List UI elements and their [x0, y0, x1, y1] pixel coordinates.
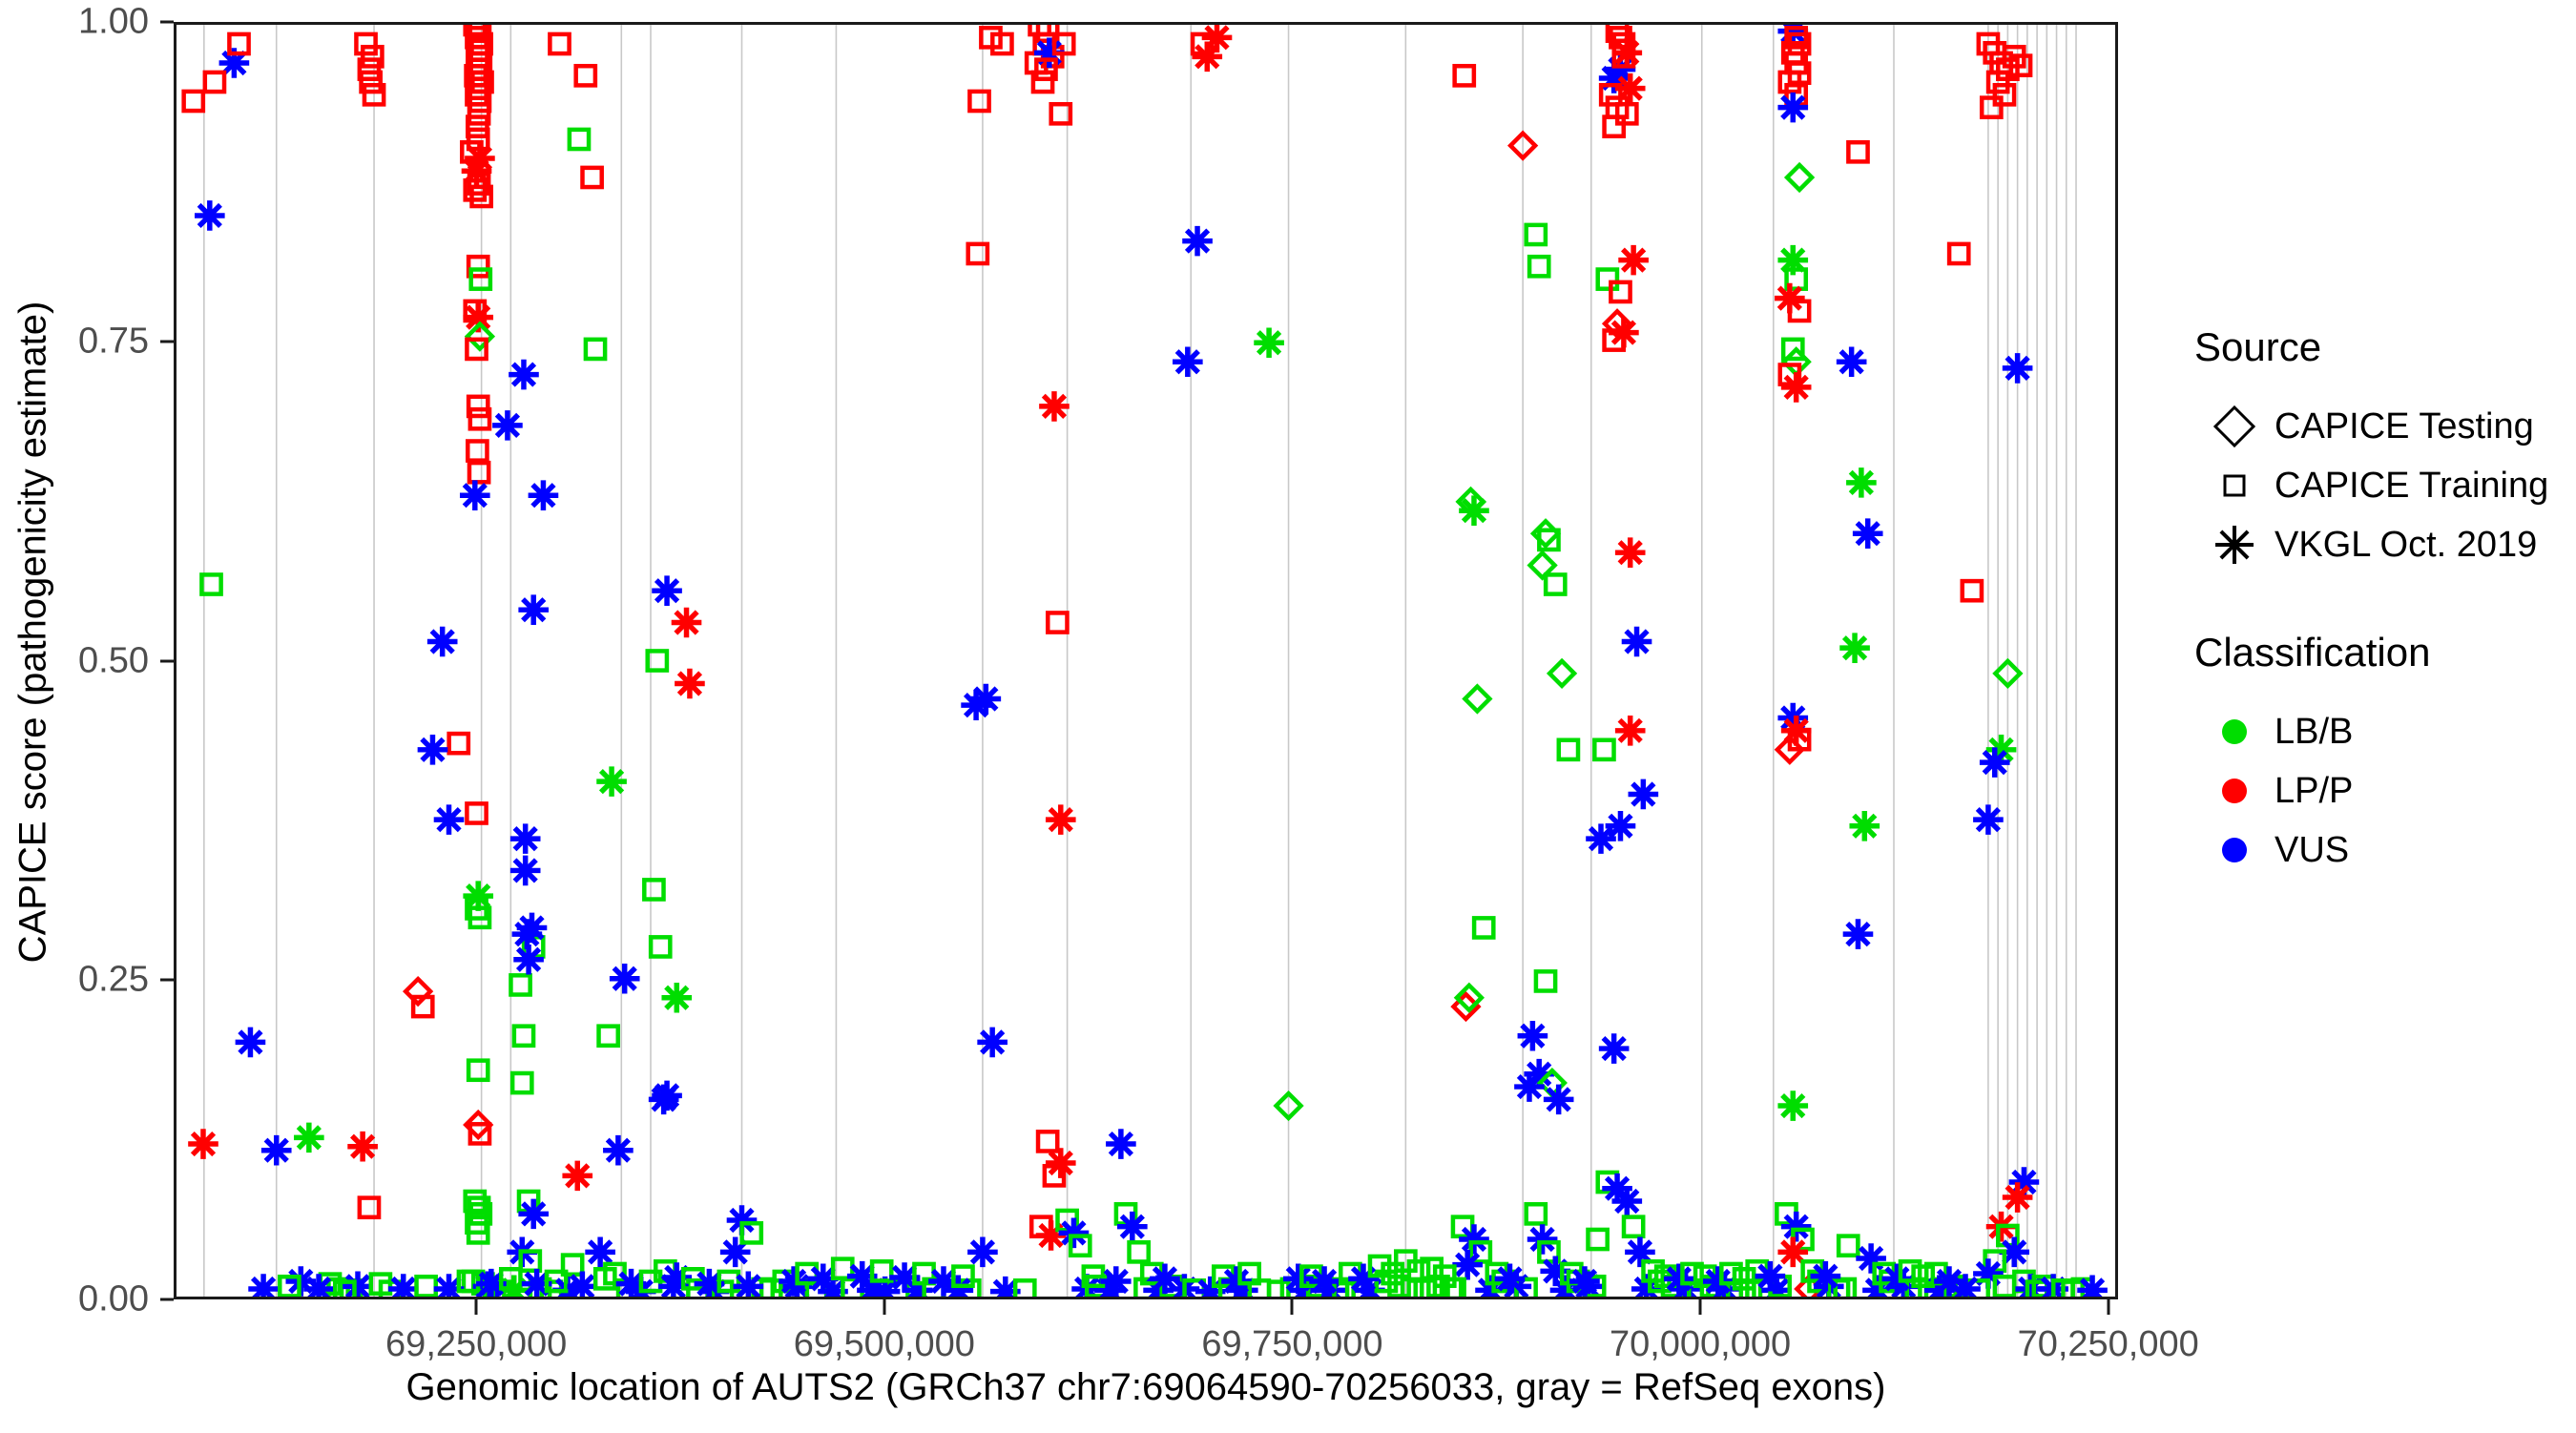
scatter-point — [967, 1237, 998, 1268]
scatter-point — [1618, 245, 1649, 276]
x-tick-mark — [475, 1299, 478, 1315]
scatter-point — [1569, 1266, 1600, 1297]
scatter-point — [195, 200, 225, 231]
scatter-point — [1837, 346, 1867, 377]
scatter-point — [610, 964, 640, 994]
scatter-point — [1610, 282, 1630, 301]
scatter-point — [1846, 467, 1877, 498]
scatter-point — [1495, 1264, 1526, 1295]
asterisk-icon — [2194, 515, 2275, 574]
scatter-point — [388, 1274, 419, 1297]
scatter-point — [1150, 1264, 1180, 1295]
y-tick-mark — [160, 659, 174, 662]
scatter-point — [675, 669, 705, 699]
legend-label-lpp: LP/P — [2275, 771, 2353, 812]
scatter-point — [1015, 1280, 1034, 1297]
legend-item-capice-training[interactable]: CAPICE Training — [2194, 456, 2576, 515]
scatter-point — [261, 1135, 292, 1166]
scatter-point — [510, 856, 541, 886]
scatter-point — [1254, 327, 1284, 358]
scatter-point — [1624, 1217, 1643, 1236]
scatter-point — [469, 463, 488, 482]
scatter-point — [1533, 521, 1558, 546]
scatter-point — [1622, 627, 1652, 657]
y-axis: CAPICE score (pathogenicity estimate) 0.… — [0, 0, 174, 1431]
scatter-point — [1995, 661, 2020, 686]
x-tick-label: 69,500,000 — [741, 1324, 1028, 1365]
scatter-point — [1130, 1242, 1149, 1261]
scatter-point — [1059, 1218, 1090, 1249]
scatter-point — [460, 480, 490, 510]
scatter-point — [1611, 1186, 1642, 1216]
scatter-point — [434, 804, 465, 835]
scatter-point — [1848, 142, 1867, 161]
scatter-point — [405, 979, 430, 1004]
legend-label-vkgl: VKGL Oct. 2019 — [2275, 525, 2537, 566]
legend-label-capice-training: CAPICE Training — [2275, 466, 2548, 507]
dot-icon-green — [2194, 702, 2275, 761]
scatter-point — [2003, 1182, 2033, 1213]
scatter-point — [1664, 1264, 1694, 1295]
scatter-point — [294, 1123, 324, 1153]
scatter-point — [1117, 1212, 1148, 1242]
scatter-point — [509, 360, 539, 390]
y-tick-mark — [160, 979, 174, 982]
scatter-point — [1452, 1250, 1483, 1280]
scatter-point — [1048, 613, 1067, 632]
scatter-point — [1510, 134, 1535, 158]
scatter-point — [1514, 1071, 1545, 1102]
scatter-point — [1455, 66, 1474, 85]
scatter-point — [1594, 740, 1613, 759]
y-axis-title: CAPICE score (pathogenicity estimate) — [12, 60, 55, 1205]
legend-item-capice-testing[interactable]: CAPICE Testing — [2194, 397, 2576, 456]
scatter-point — [968, 244, 987, 263]
x-tick-label: 69,750,000 — [1149, 1324, 1435, 1365]
x-tick-label: 70,000,000 — [1557, 1324, 1843, 1365]
scatter-point — [1173, 346, 1203, 377]
scatter-point — [1459, 495, 1489, 526]
scatter-point — [1106, 1129, 1136, 1159]
scatter-point — [1787, 165, 1812, 190]
scatter-point — [651, 937, 670, 956]
scatter-point — [603, 1135, 634, 1166]
scatter-point — [184, 92, 203, 111]
scatter-point — [570, 130, 589, 149]
scatter-point — [1839, 1236, 1858, 1256]
scatter-point — [1182, 226, 1213, 257]
scatter-point — [1529, 257, 1548, 276]
scatter-point — [1856, 1243, 1886, 1274]
scatter-point — [1465, 687, 1489, 712]
scatter-point — [529, 480, 559, 510]
scatter-point — [1598, 270, 1617, 289]
scatter-point — [467, 803, 486, 822]
diamond-icon — [2194, 397, 2275, 456]
scatter-point — [1839, 633, 1870, 663]
scatter-point — [518, 1199, 549, 1230]
scatter-point — [1051, 104, 1070, 123]
scatter-points — [177, 25, 2115, 1297]
scatter-point — [1982, 98, 2001, 117]
scatter-point — [468, 1061, 488, 1080]
scatter-point — [1527, 225, 1546, 244]
scatter-point — [201, 574, 220, 593]
scatter-point — [510, 823, 541, 854]
scatter-point — [576, 66, 595, 85]
scatter-point — [492, 410, 523, 441]
scatter-point — [1777, 1090, 1808, 1121]
scatter-point — [512, 1073, 531, 1092]
scatter-point — [1527, 1224, 1558, 1255]
scatter-point — [356, 34, 375, 53]
scatter-point — [1588, 1230, 1607, 1249]
scatter-point — [1949, 244, 1968, 263]
legend-title-source: Source — [2194, 324, 2576, 370]
x-tick-mark — [1291, 1299, 1294, 1315]
scatter-point — [1536, 971, 1555, 990]
scatter-point — [205, 73, 224, 92]
legend-group-source: Source CAPICE Testing CAPICE Training — [2194, 324, 2576, 574]
scatter-point — [1269, 1282, 1288, 1297]
y-tick-mark — [160, 340, 174, 343]
dot-icon-red — [2194, 761, 2275, 820]
legend-group-classification: Classification LB/B LP/P VUS — [2194, 630, 2576, 880]
y-tick-label: 0.50 — [15, 640, 149, 681]
legend-label-capice-testing: CAPICE Testing — [2275, 406, 2534, 447]
scatter-point — [971, 684, 1002, 715]
scatter-point — [188, 1129, 218, 1159]
y-tick-label: 0.25 — [15, 960, 149, 1001]
scatter-point — [1038, 1132, 1057, 1151]
scatter-point — [1615, 73, 1646, 104]
legend-label-lbb: LB/B — [2275, 712, 2353, 753]
dot-icon-blue — [2194, 820, 2275, 880]
scatter-point — [248, 1274, 279, 1297]
scatter-point — [1559, 740, 1578, 759]
scatter-point — [1811, 1261, 1841, 1292]
scatter-point — [550, 34, 569, 53]
scatter-point — [1629, 779, 1659, 810]
scatter-point — [1474, 918, 1493, 937]
scatter-point — [518, 594, 549, 625]
scatter-point — [1546, 574, 1565, 593]
x-tick-mark — [883, 1299, 885, 1315]
scatter-point — [648, 651, 667, 670]
scatter-point — [1934, 1266, 1964, 1297]
x-tick-label: 69,250,000 — [333, 1324, 619, 1365]
scatter-point — [467, 441, 487, 460]
scatter-point — [1781, 372, 1812, 403]
scatter-point — [1853, 518, 1883, 549]
scatter-point — [977, 1028, 1008, 1058]
scatter-point — [562, 1161, 592, 1192]
scatter-point — [1777, 93, 1808, 123]
x-tick-mark — [2107, 1299, 2109, 1315]
scatter-point — [644, 880, 663, 899]
square-icon — [2194, 456, 2275, 515]
scatter-point — [1046, 1148, 1076, 1178]
scatter-point — [582, 168, 601, 187]
scatter-point — [1101, 1266, 1132, 1297]
legend-item-vus[interactable]: VUS — [2194, 820, 2576, 880]
legend-item-lpp[interactable]: LP/P — [2194, 761, 2576, 820]
scatter-point — [1527, 1204, 1546, 1223]
scatter-point — [1544, 1085, 1574, 1115]
x-axis-title: Genomic location of AUTS2 (GRCh37 chr7:6… — [174, 1366, 2118, 1409]
x-tick-mark — [1699, 1299, 1702, 1315]
legend: Source CAPICE Testing CAPICE Training — [2194, 324, 2576, 935]
scatter-point — [427, 627, 458, 657]
y-tick-mark — [160, 21, 174, 24]
scatter-point — [652, 575, 682, 606]
legend-title-classification: Classification — [2194, 630, 2576, 675]
scatter-point — [1843, 919, 1874, 949]
y-tick-label: 1.00 — [15, 2, 149, 43]
scatter-point — [347, 1132, 378, 1162]
scatter-point — [1599, 1033, 1630, 1064]
scatter-point — [1277, 1093, 1301, 1118]
scatter-point — [1609, 318, 1639, 348]
scatter-point — [1973, 804, 2004, 835]
scatter-point — [586, 340, 605, 359]
legend-item-lbb[interactable]: LB/B — [2194, 702, 2576, 761]
scatter-point — [599, 1027, 618, 1046]
capice-scatter-figure: CAPICE score (pathogenicity estimate) 0.… — [0, 0, 2576, 1431]
y-tick-label: 0.75 — [15, 321, 149, 362]
legend-item-vkgl[interactable]: VKGL Oct. 2019 — [2194, 515, 2576, 574]
scatter-point — [236, 1028, 266, 1058]
scatter-point — [1849, 811, 1880, 841]
scatter-point — [417, 1277, 436, 1296]
scatter-point — [2003, 353, 2033, 384]
scatter-point — [1459, 1224, 1489, 1255]
scatter-point — [1309, 1266, 1340, 1297]
scatter-point — [1039, 391, 1070, 422]
scatter-point — [1046, 804, 1076, 835]
scatter-point — [1995, 85, 2014, 104]
scatter-point — [1605, 117, 1624, 136]
scatter-point — [1549, 661, 1574, 686]
scatter-point — [1586, 823, 1616, 854]
scatter-point — [517, 913, 548, 944]
scatter-point — [449, 734, 468, 753]
scatter-point — [661, 983, 692, 1013]
scatter-point — [1615, 537, 1646, 568]
scatter-point — [1784, 349, 1809, 374]
scatter-point — [1963, 581, 1982, 600]
scatter-point — [418, 735, 448, 765]
scatter-point — [672, 608, 702, 638]
scatter-point — [360, 1198, 379, 1217]
scatter-point — [649, 1085, 679, 1115]
scatter-point — [1615, 716, 1646, 746]
scatter-point — [1755, 1261, 1786, 1292]
scatter-point — [1781, 1212, 1812, 1242]
plot-panel — [174, 22, 2118, 1299]
x-tick-label: 70,250,000 — [1965, 1324, 2252, 1365]
legend-label-vus: VUS — [2275, 830, 2349, 871]
scatter-point — [1348, 1264, 1379, 1295]
scatter-point — [510, 975, 530, 994]
scatter-point — [969, 92, 988, 111]
scatter-point — [1518, 1021, 1548, 1051]
scatter-point — [514, 1027, 533, 1046]
scatter-point — [596, 766, 627, 797]
scatter-point — [1980, 747, 2010, 778]
